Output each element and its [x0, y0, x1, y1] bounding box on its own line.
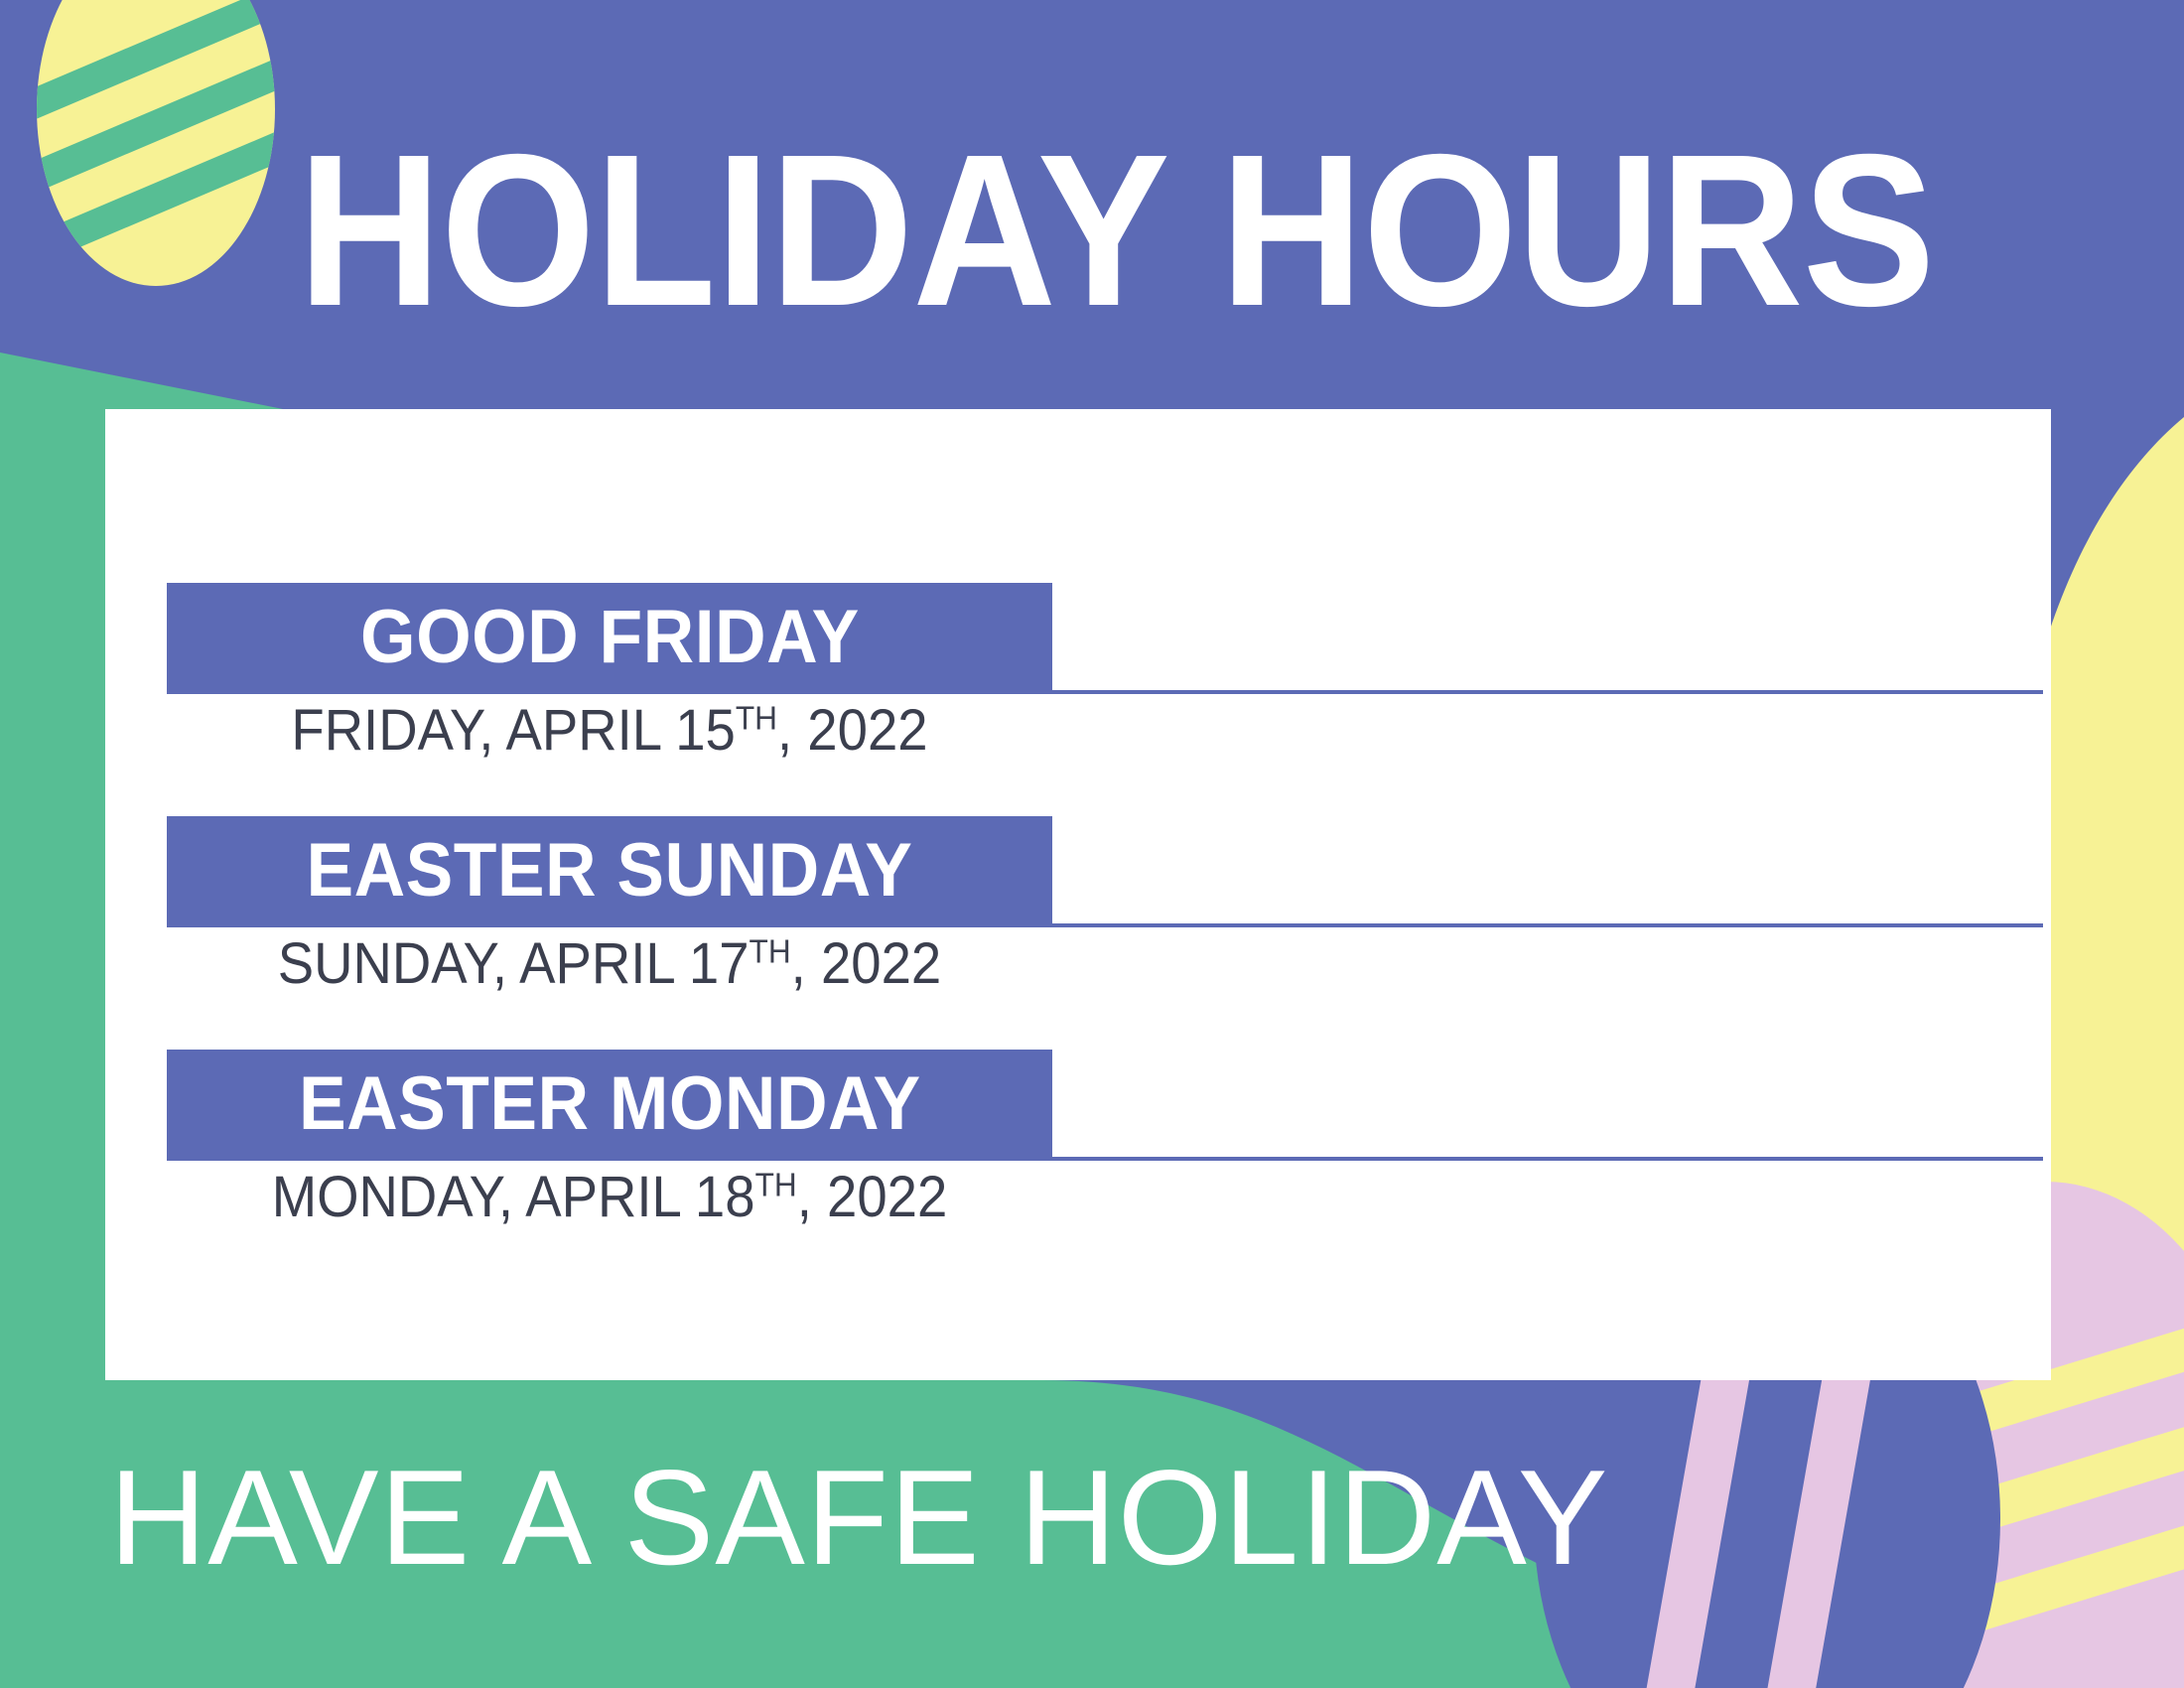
holiday-date-weekday: MONDAY, [272, 1165, 526, 1229]
holiday-name: EASTER SUNDAY [307, 831, 913, 911]
holiday-date-day: 18 [695, 1165, 755, 1229]
holiday-date: MONDAY, APRIL 18TH, 2022 [194, 1161, 1025, 1234]
holiday-date-day: 15 [675, 698, 736, 763]
holiday-date-day: 17 [689, 931, 750, 996]
page-title: HOLIDAY HOURS [298, 117, 1850, 346]
holiday-date-ordinal: TH [736, 701, 777, 738]
holiday-name: GOOD FRIDAY [360, 598, 860, 677]
holiday-date-year: , 2022 [797, 1165, 948, 1229]
holiday-date: SUNDAY, APRIL 17TH, 2022 [194, 927, 1025, 1001]
holiday-date-weekday: FRIDAY, [291, 698, 505, 763]
holiday-hours-poster: HOLIDAY HOURS GOOD FRIDAY FRIDAY, APRIL … [0, 0, 2184, 1688]
holiday-name: EASTER MONDAY [299, 1064, 921, 1144]
holiday-rows: GOOD FRIDAY FRIDAY, APRIL 15TH, 2022 EAS… [105, 409, 2051, 1380]
holiday-date-year: , 2022 [777, 698, 928, 763]
holiday-date-year: , 2022 [791, 931, 942, 996]
holiday-date-ordinal: TH [755, 1168, 797, 1204]
footer-message: HAVE A SAFE HOLIDAY [109, 1438, 1608, 1597]
holiday-date-month: APRIL [506, 698, 676, 763]
holiday-date-month: APRIL [519, 931, 689, 996]
holiday-date: FRIDAY, APRIL 15TH, 2022 [194, 694, 1025, 768]
holiday-name-bar: EASTER MONDAY [167, 1050, 1052, 1159]
holiday-name-bar: EASTER SUNDAY [167, 816, 1052, 925]
holiday-date-month: APRIL [525, 1165, 695, 1229]
holiday-date-weekday: SUNDAY, [278, 931, 519, 996]
holiday-date-ordinal: TH [750, 934, 791, 971]
holiday-name-bar: GOOD FRIDAY [167, 583, 1052, 692]
